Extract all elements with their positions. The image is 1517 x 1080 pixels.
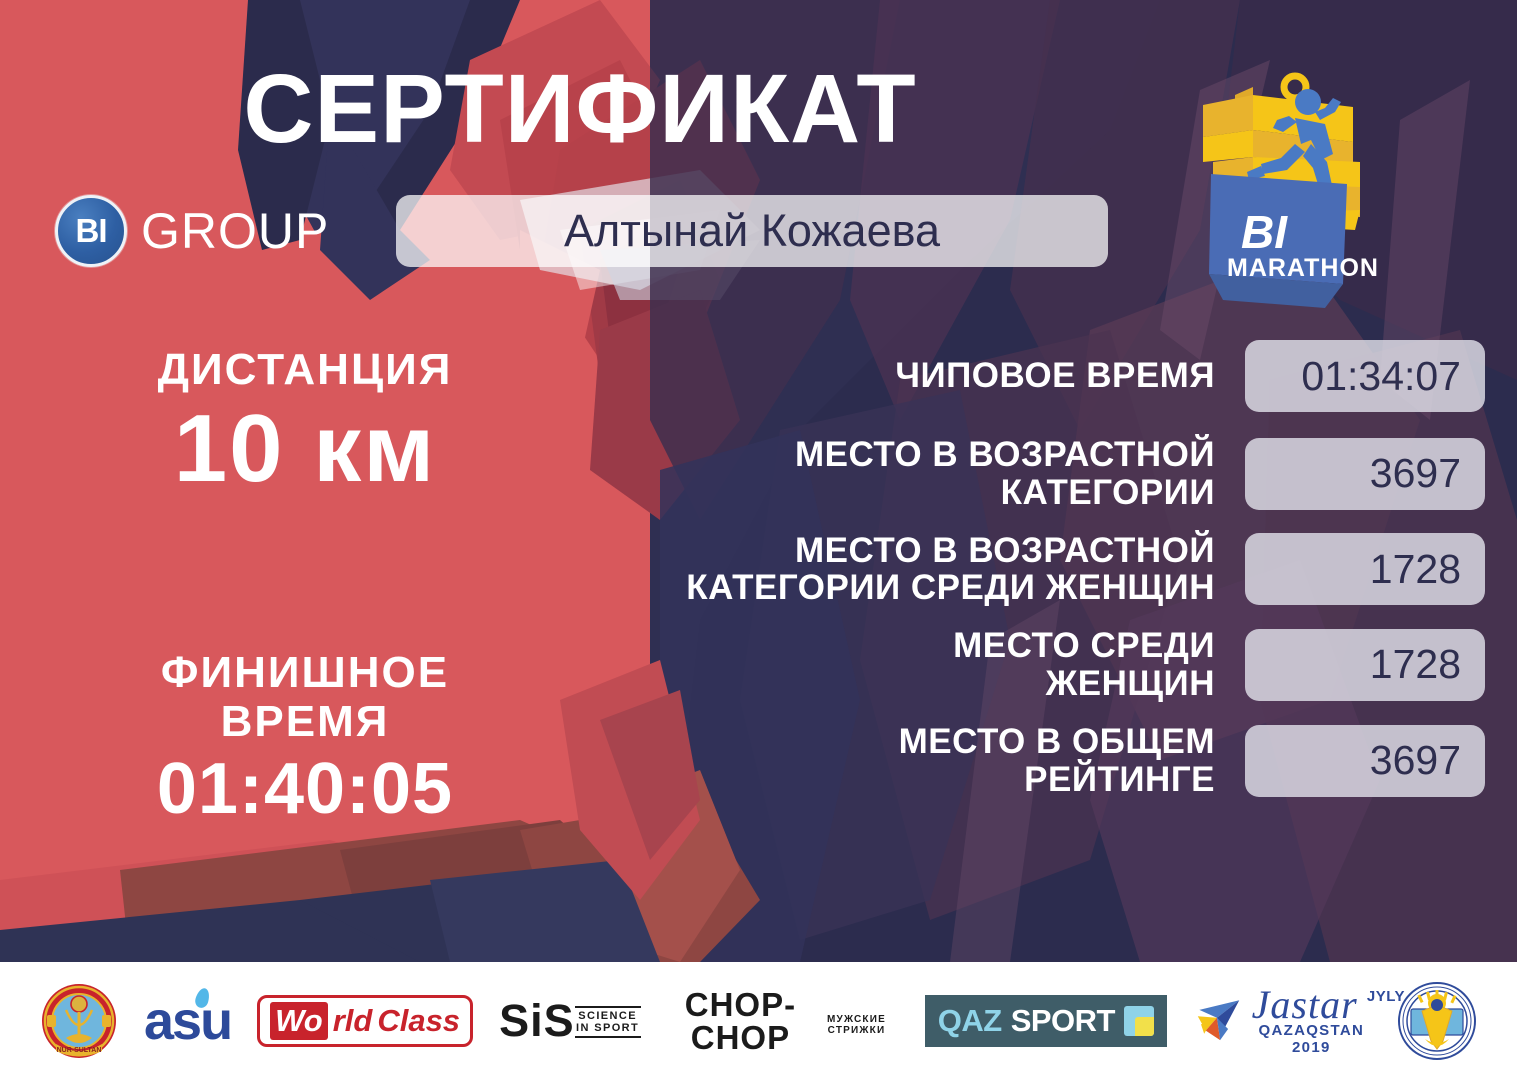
jastar-arrow-icon [1193, 991, 1246, 1051]
table-row: ЧИПОВОЕ ВРЕМЯ 01:34:07 [500, 340, 1485, 412]
stat-label: МЕСТО В ОБЩЕМ РЕЙТИНГЕ [500, 723, 1245, 799]
bi-marathon-logo: BI MARATHON [1175, 62, 1390, 312]
stat-label-line1: ЧИПОВОЕ ВРЕМЯ [500, 357, 1215, 395]
svg-text:NUR-SULTAN: NUR-SULTAN [57, 1047, 102, 1054]
bi-group-logo: BI GROUP [55, 195, 329, 267]
table-row: МЕСТО СРЕДИ ЖЕНЩИН 1728 [500, 627, 1485, 703]
stat-label-line2: ЖЕНЩИН [500, 665, 1215, 703]
qazsport-word2: SPORT [1011, 1003, 1115, 1039]
world-class-word3: Class [377, 1003, 460, 1039]
results-table: ЧИПОВОЕ ВРЕМЯ 01:34:07 МЕСТО В ВОЗРАСТНО… [500, 340, 1485, 814]
svg-text:BI: BI [1241, 206, 1288, 258]
distance-value: 10 км [50, 401, 560, 497]
qazsport-word1: QAZ [938, 1003, 1002, 1039]
distance-label: ДИСТАНЦИЯ [50, 345, 560, 395]
sponsor-asu-logo: asu [144, 990, 231, 1052]
stat-value-pill: 3697 [1245, 725, 1485, 797]
sponsor-nur-sultan-logo: NUR-SULTAN [40, 982, 118, 1060]
table-row: МЕСТО В ВОЗРАСТНОЙ КАТЕГОРИИ СРЕДИ ЖЕНЩИ… [500, 532, 1485, 608]
distance-block: ДИСТАНЦИЯ 10 км [50, 345, 560, 497]
world-class-word1: Wo [270, 1002, 328, 1040]
sponsor-world-class-logo: Wo rld Class [257, 995, 473, 1047]
svg-text:MARATHON: MARATHON [1227, 254, 1379, 282]
chop-chop-tagline: МУЖСКИЕ СТРИЖКИ [814, 1014, 899, 1036]
stat-value: 3697 [1370, 737, 1461, 784]
stat-value-pill: 01:34:07 [1245, 340, 1485, 412]
stat-label: МЕСТО СРЕДИ ЖЕНЩИН [500, 627, 1245, 703]
jastar-wordmark: Jastar [1252, 986, 1371, 1024]
stat-label: МЕСТО В ВОЗРАСТНОЙ КАТЕГОРИИ СРЕДИ ЖЕНЩИ… [500, 532, 1245, 608]
sponsor-qazsport-logo: QAZ SPORT [925, 995, 1167, 1047]
stat-label-line1: МЕСТО В ВОЗРАСТНОЙ [500, 436, 1215, 474]
jastar-text-block: Jastar JYLY QAZAQSTAN 2019 [1252, 986, 1371, 1056]
chop-chop-wordmark: CHOP-CHOP [667, 988, 815, 1054]
participant-name-pill: Алтынай Кожаева [396, 195, 1108, 267]
table-row: МЕСТО В ВОЗРАСТНОЙ КАТЕГОРИИ 3697 [500, 436, 1485, 512]
bi-marathon-badge-icon: BI MARATHON [1175, 62, 1390, 312]
certificate-title: СЕРТИФИКАТ [0, 58, 1160, 160]
ministry-seal-icon [1397, 981, 1477, 1061]
bi-circle-icon: BI [55, 195, 127, 267]
stat-label-line2: РЕЙТИНГЕ [500, 761, 1215, 799]
stat-value: 1728 [1370, 641, 1461, 688]
sis-tagline: SCIENCE IN SPORT [575, 1006, 641, 1038]
world-class-word2: rld [333, 1003, 373, 1039]
qazsport-swatch-icon [1124, 1006, 1154, 1036]
stat-label: МЕСТО В ВОЗРАСТНОЙ КАТЕГОРИИ [500, 436, 1245, 512]
finish-time-value: 01:40:05 [50, 753, 560, 825]
sponsor-jastar-jyly-logo: Jastar JYLY QAZAQSTAN 2019 [1193, 986, 1371, 1056]
stat-value: 3697 [1370, 450, 1461, 497]
asu-wordmark: asu [144, 990, 231, 1052]
jastar-jyly-word: JYLY [1367, 988, 1405, 1005]
stat-label-line1: МЕСТО СРЕДИ [500, 627, 1215, 665]
stat-value: 01:34:07 [1301, 353, 1461, 400]
participant-name: Алтынай Кожаева [564, 205, 940, 257]
finish-time-label-line1: ФИНИШНОЕ [50, 648, 560, 697]
stat-value: 1728 [1370, 546, 1461, 593]
sponsor-chop-chop-logo: CHOP-CHOP МУЖСКИЕ СТРИЖКИ [667, 988, 899, 1054]
jastar-subtitle: QAZAQSTAN 2019 [1252, 1022, 1371, 1056]
sponsor-bar: NUR-SULTAN asu Wo rld Class SiS SCIENCE … [0, 962, 1517, 1080]
stat-label: ЧИПОВОЕ ВРЕМЯ [500, 357, 1245, 395]
stat-value-pill: 3697 [1245, 438, 1485, 510]
finish-time-block: ФИНИШНОЕ ВРЕМЯ 01:40:05 [50, 648, 560, 825]
stat-value-pill: 1728 [1245, 533, 1485, 605]
stat-label-line1: МЕСТО В ОБЩЕМ [500, 723, 1215, 761]
finish-time-label-line2: ВРЕМЯ [50, 697, 560, 746]
stat-value-pill: 1728 [1245, 629, 1485, 701]
sponsor-sis-logo: SiS SCIENCE IN SPORT [499, 1000, 641, 1041]
stat-label-line2: КАТЕГОРИИ [500, 474, 1215, 512]
certificate-canvas: СЕРТИФИКАТ BI GROUP Алтынай Кожаева [0, 0, 1517, 1080]
bi-mark-label: BI [76, 212, 107, 250]
table-row: МЕСТО В ОБЩЕМ РЕЙТИНГЕ 3697 [500, 723, 1485, 799]
nur-sultan-emblem-icon: NUR-SULTAN [40, 982, 118, 1060]
sponsor-ministry-seal-logo [1397, 981, 1477, 1061]
sis-wordmark: SiS [499, 1000, 575, 1041]
bi-group-word: GROUP [141, 202, 329, 260]
stat-label-line2: КАТЕГОРИИ СРЕДИ ЖЕНЩИН [500, 569, 1215, 607]
stat-label-line1: МЕСТО В ВОЗРАСТНОЙ [500, 532, 1215, 570]
